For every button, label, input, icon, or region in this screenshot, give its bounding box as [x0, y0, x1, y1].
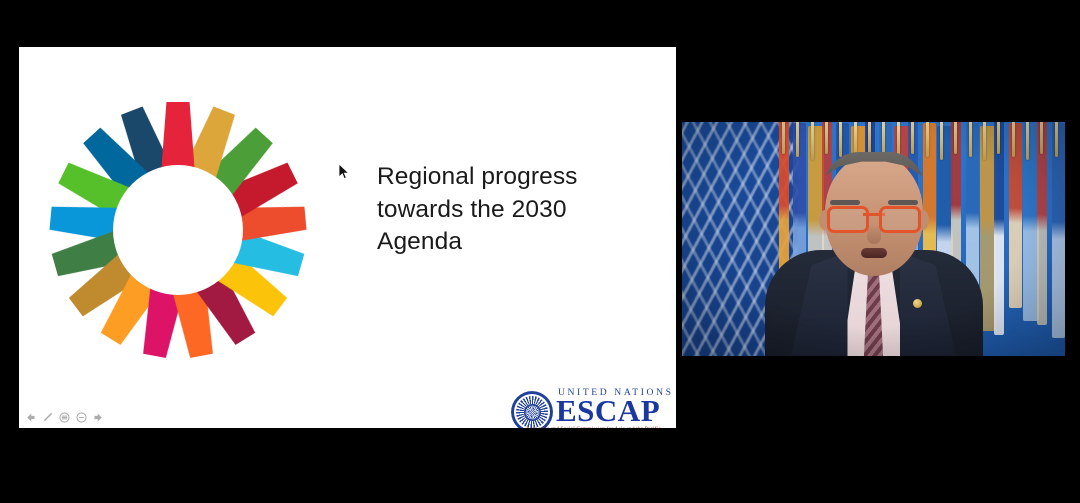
escap-tagline: Economic and Social Commission for Asia … [511, 426, 676, 428]
slide-title-line-2: towards the 2030 [377, 194, 607, 227]
un-emblem-icon [511, 391, 553, 428]
sdg-wheel-center [113, 165, 243, 295]
slide-title: Regional progress towards the 2030 Agend… [377, 161, 607, 259]
pen-annotation-icon[interactable] [41, 411, 54, 424]
next-slide-icon[interactable] [92, 411, 105, 424]
sdg-color-wheel [33, 85, 323, 375]
speaker-video-tile[interactable] [682, 122, 1065, 356]
slide-title-sr: Regional progress towards the 2030 Agend… [0, 0, 1, 1]
presentation-toolbar[interactable] [24, 409, 105, 425]
slide-title-line-3: Agenda [377, 226, 607, 259]
slide-title-line-1: Regional progress [377, 161, 607, 194]
escap-wordmark: ESCAP [556, 395, 660, 426]
shared-slide[interactable]: Regional progress towards the 2030 Agend… [19, 47, 676, 428]
un-escap-logo: UNITED NATIONS ESCAP Economic and Social… [511, 385, 676, 428]
previous-slide-icon[interactable] [24, 411, 37, 424]
slide-menu-icon[interactable] [58, 411, 71, 424]
video-vignette [682, 122, 1065, 356]
zoom-slide-icon[interactable] [75, 411, 88, 424]
mouse-pointer [338, 163, 350, 181]
screen-share-stage: Regional progress towards the 2030 Agend… [0, 0, 1080, 503]
